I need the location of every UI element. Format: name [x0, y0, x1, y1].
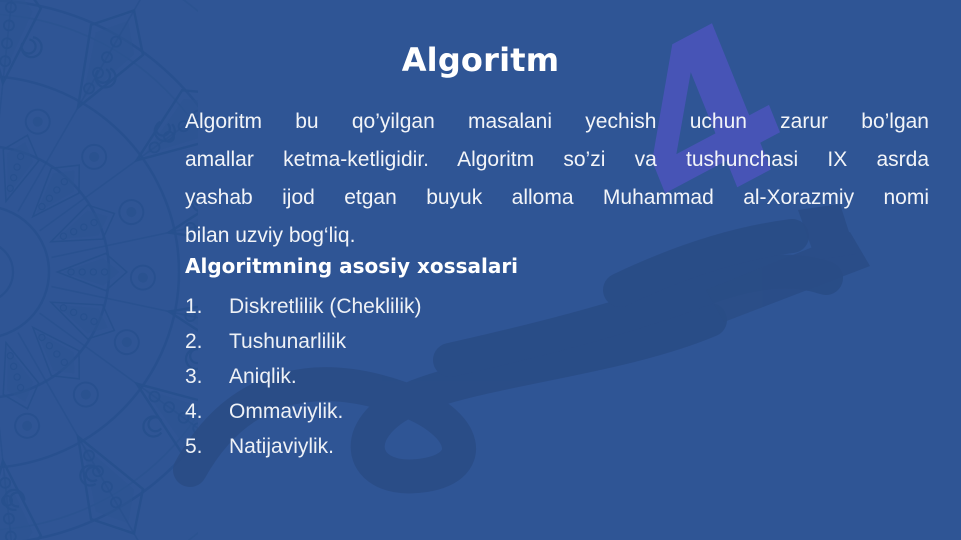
list-item-label: Diskretlilik (Cheklilik) — [229, 295, 422, 318]
list-item-marker: 2. — [185, 324, 229, 359]
list-item-label: Natijaviylik. — [229, 435, 334, 458]
slide-content: Algoritm Algoritm bu qo’yilgan masalani … — [0, 0, 961, 540]
intro-paragraph: Algoritm bu qo’yilgan masalani yechish u… — [185, 103, 929, 255]
page-title: Algoritm — [0, 40, 961, 80]
properties-list: 1.Diskretlilik (Cheklilik) 2.Tushunarlil… — [185, 289, 785, 464]
list-item-marker: 4. — [185, 394, 229, 429]
list-item-marker: 3. — [185, 359, 229, 394]
list-item-label: Ommaviylik. — [229, 400, 343, 423]
paragraph-line: yashab ijod etgan buyuk alloma Muhammad … — [185, 179, 929, 217]
paragraph-line: amallar ketma-ketligidir. Algoritm so’zi… — [185, 141, 929, 179]
list-item: 1.Diskretlilik (Cheklilik) — [185, 289, 785, 324]
list-item: 2.Tushunarlilik — [185, 324, 785, 359]
list-item: 3.Aniqlik. — [185, 359, 785, 394]
slide-canvas: 4 Algoritm Algoritm bu qo’yilgan masalan… — [0, 0, 961, 540]
paragraph-line: bilan uzviy bog‘liq. — [185, 217, 929, 255]
list-item-marker: 5. — [185, 429, 229, 464]
paragraph-line: Algoritm bu qo’yilgan masalani yechish u… — [185, 103, 929, 141]
list-item: 5.Natijaviylik. — [185, 429, 785, 464]
section-heading: Algoritmning asosiy xossalari — [185, 252, 929, 280]
list-item-label: Aniqlik. — [229, 365, 297, 388]
list-item: 4.Ommaviylik. — [185, 394, 785, 429]
list-item-marker: 1. — [185, 289, 229, 324]
list-item-label: Tushunarlilik — [229, 330, 346, 353]
